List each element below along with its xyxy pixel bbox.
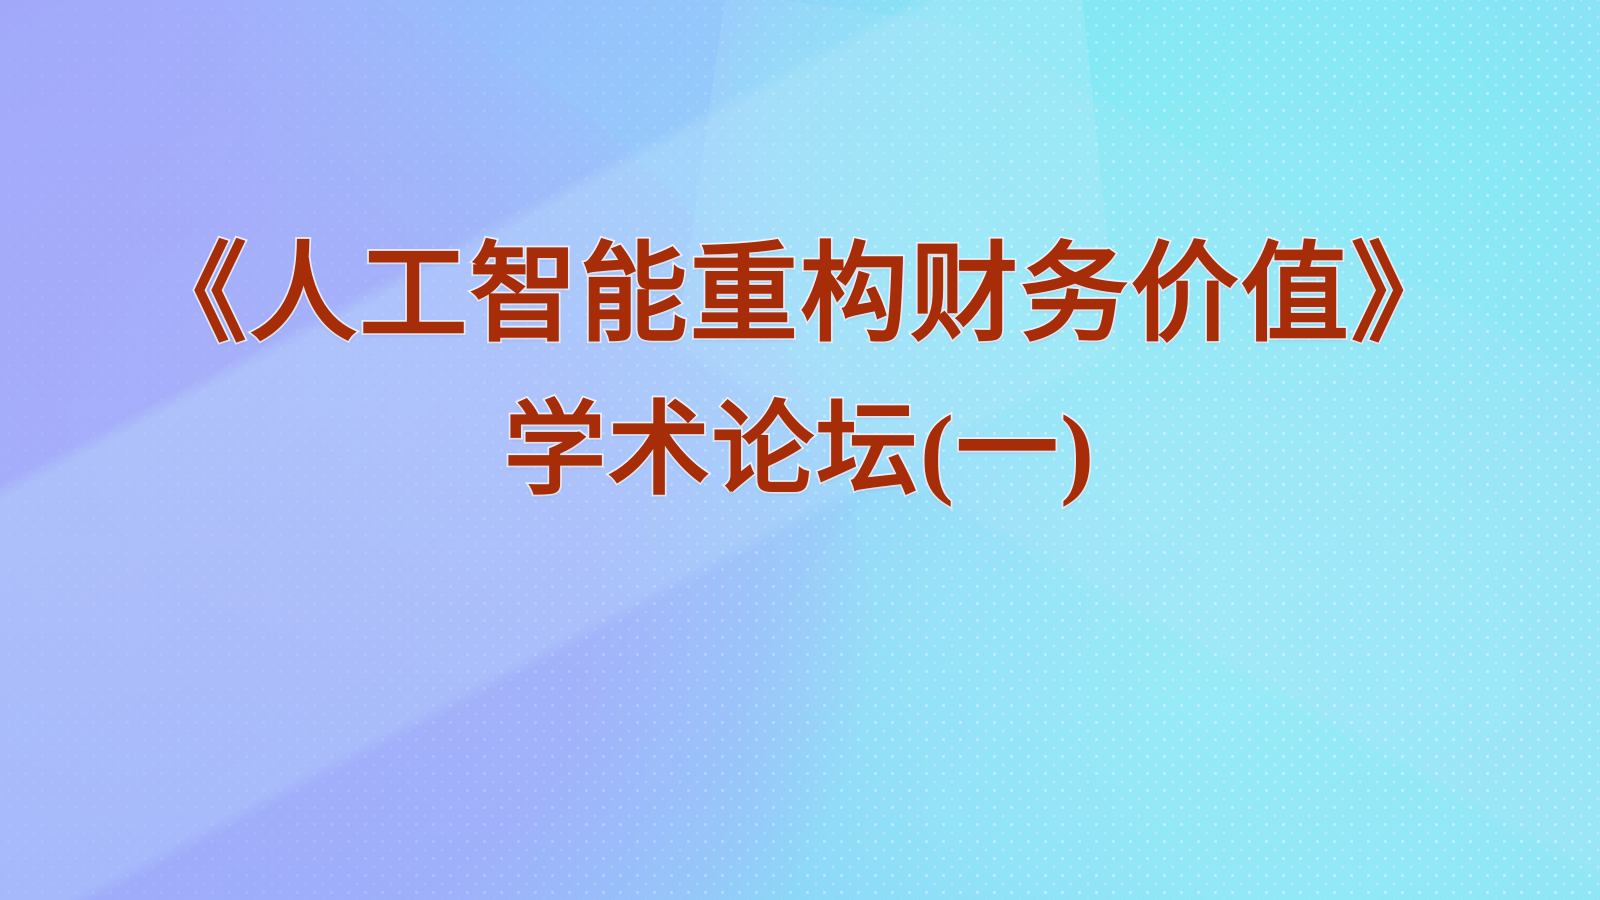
slide-title-secondary: 学术论坛(一): [504, 395, 1096, 509]
title-block: 《人工智能重构财务价值》 学术论坛(一): [0, 236, 1600, 509]
title-slide: 《人工智能重构财务价值》 学术论坛(一): [0, 0, 1600, 900]
slide-title-primary: 《人工智能重构财务价值》: [139, 236, 1461, 357]
